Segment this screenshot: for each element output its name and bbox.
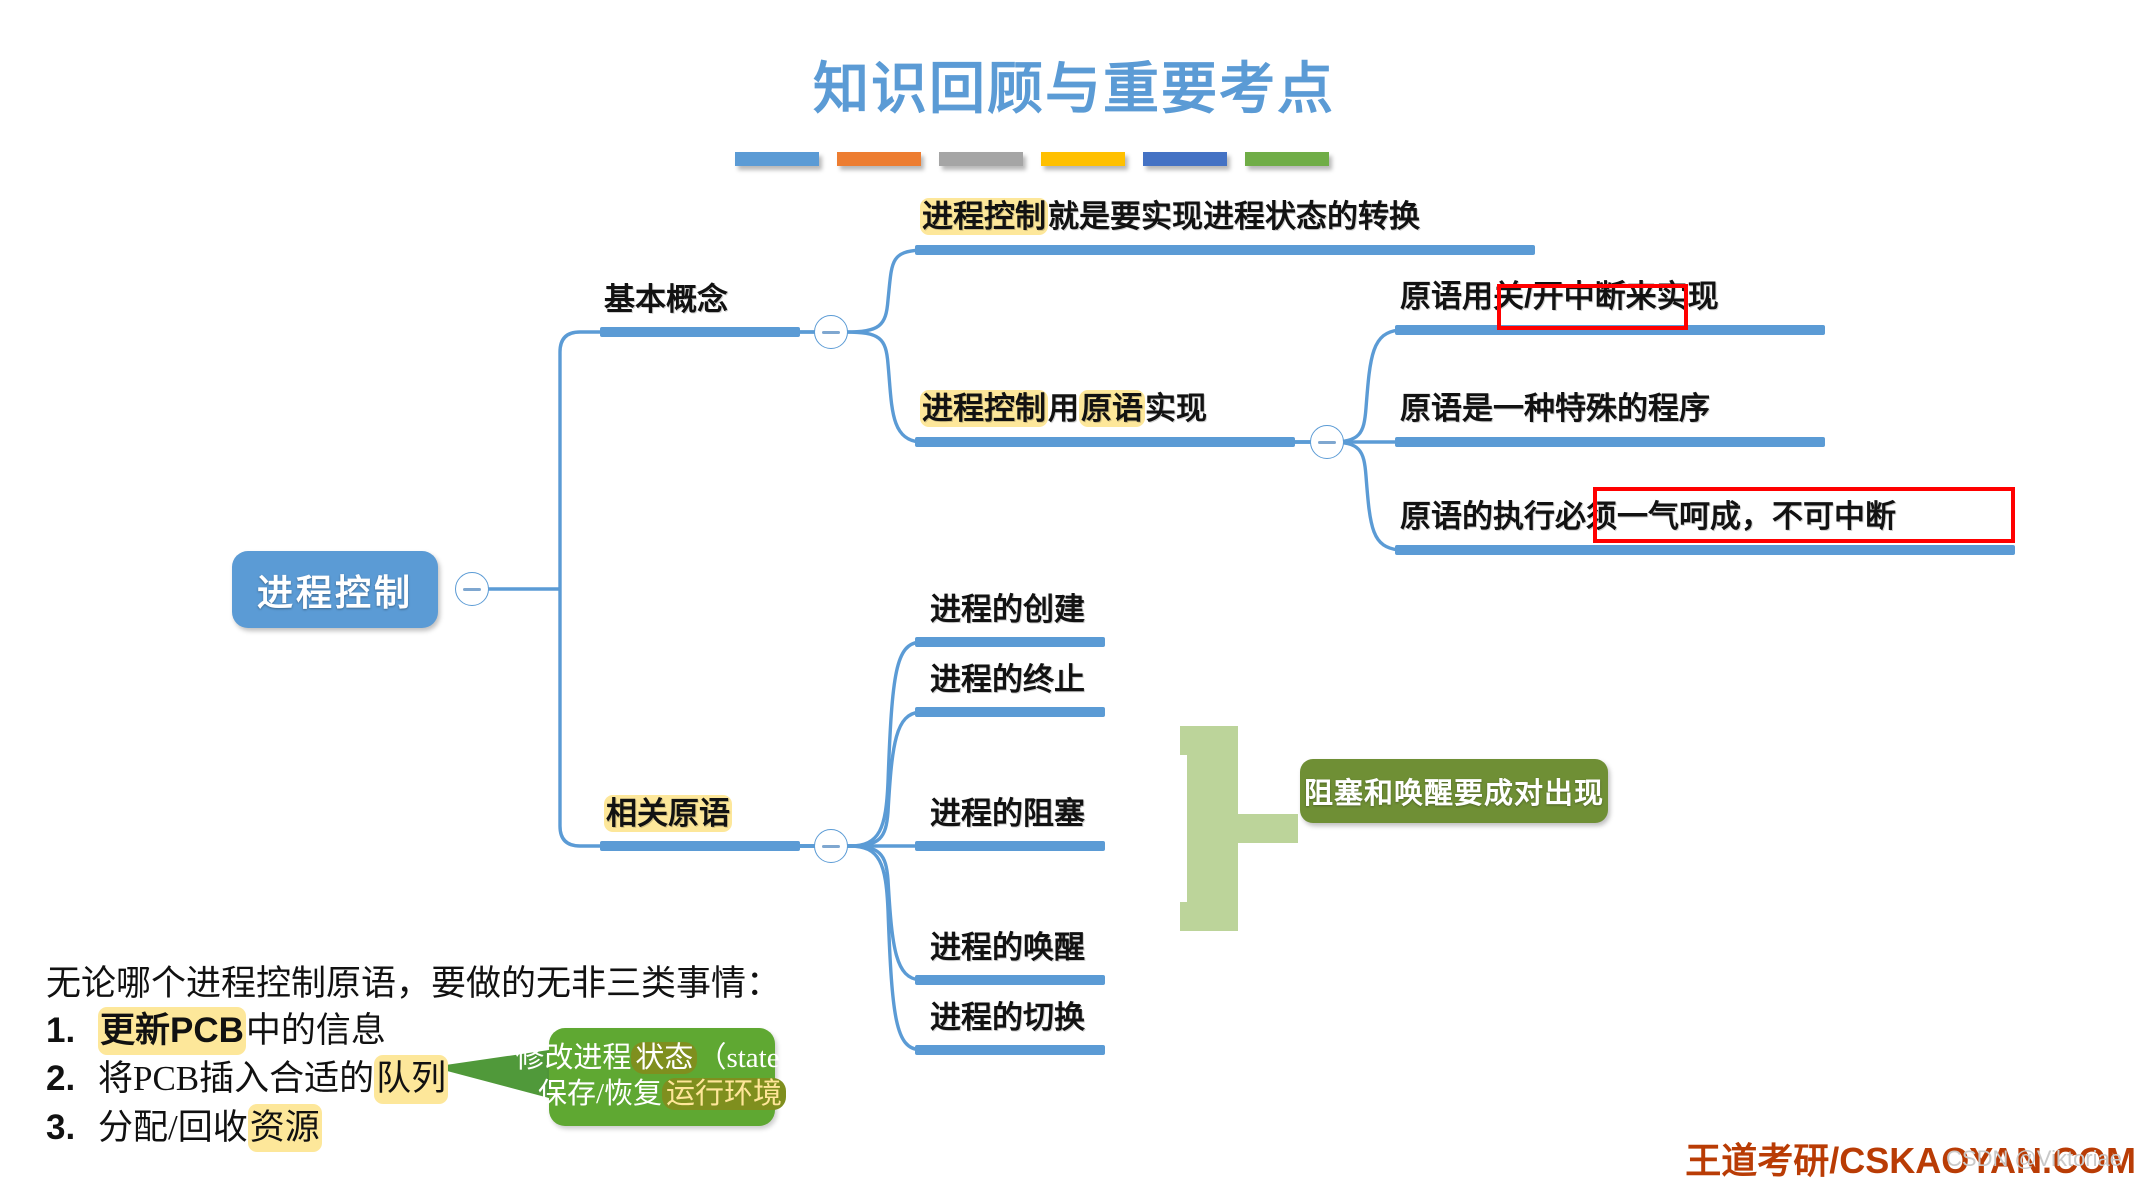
callout-line-2: 保存/恢复运行环境: [538, 1077, 786, 1113]
accent-bar-2: [837, 152, 921, 166]
node-related-primitives-label: 相关原语: [604, 795, 732, 832]
list-item-post: 中的信息: [246, 1008, 386, 1055]
node-pcup-seg3: 原语: [1079, 390, 1145, 427]
node-process-block-label: 进程的阻塞: [930, 797, 1085, 832]
speech-callout[interactable]: 修改进程状态（state） 保存/恢复运行环境: [549, 1028, 775, 1126]
collapse-toggle-related-primitives[interactable]: [814, 829, 848, 863]
node-process-create-label: 进程的创建: [930, 593, 1085, 628]
accent-bar-3: [939, 152, 1023, 166]
node-process-control-uses-primitives[interactable]: 进程控制用原语实现: [920, 392, 1207, 427]
node-primitive-special-program[interactable]: 原语是一种特殊的程序: [1400, 392, 1710, 427]
node-basic-concept[interactable]: 基本概念: [604, 283, 728, 318]
bottom-note-intro: 无论哪个进程控制原语，要做的无非三类事情：: [46, 962, 781, 1007]
node-pcup-seg2: 用: [1048, 391, 1079, 426]
bracket-note-box[interactable]: 阻塞和唤醒要成对出现: [1300, 759, 1608, 823]
accent-bar-6: [1245, 152, 1329, 166]
collapse-toggle-basic-concept[interactable]: [814, 315, 848, 349]
node-pcst-rest: 就是要实现进程状态的转换: [1048, 199, 1420, 234]
collapse-toggle-root[interactable]: [455, 572, 489, 606]
node-pcup-seg1: 进程控制: [920, 390, 1048, 427]
node-process-wakeup[interactable]: 进程的唤醒: [930, 931, 1085, 966]
node-pcup-seg4: 实现: [1145, 391, 1207, 426]
callout-line-1: 修改进程状态（state）: [515, 1041, 808, 1077]
node-process-switch-label: 进程的切换: [930, 1001, 1085, 1036]
node-process-terminate-label: 进程的终止: [930, 663, 1085, 698]
accent-bar-4: [1041, 152, 1125, 166]
accent-bar-5: [1143, 152, 1227, 166]
list-item-number: 2.: [46, 1056, 98, 1103]
accent-bar-strip: [735, 152, 1329, 166]
accent-bar-1: [735, 152, 819, 166]
node-basic-concept-label: 基本概念: [604, 283, 728, 318]
csdn-watermark: CSDN @Viktoriae: [1946, 1146, 2122, 1172]
node-process-create[interactable]: 进程的创建: [930, 593, 1085, 628]
list-item-highlight: 资源: [248, 1104, 322, 1153]
callout-line1-pre: 修改进程: [515, 1042, 631, 1074]
green-bracket: [1180, 726, 1298, 931]
node-process-terminate[interactable]: 进程的终止: [930, 663, 1085, 698]
mindmap-root-node[interactable]: 进程控制: [232, 551, 438, 628]
page-title: 知识回顾与重要考点: [0, 44, 2148, 125]
list-item-highlight: 队列: [374, 1055, 448, 1104]
collapse-toggle-primitives[interactable]: [1310, 425, 1344, 459]
node-process-block[interactable]: 进程的阻塞: [930, 797, 1085, 832]
node-psp-label: 原语是一种特殊的程序: [1400, 392, 1710, 427]
callout-line2-highlight: 运行环境: [662, 1078, 786, 1110]
node-process-wakeup-label: 进程的唤醒: [930, 931, 1085, 966]
callout-line1-post: （state）: [697, 1042, 808, 1074]
red-annotation-box-atomic: [1593, 487, 2015, 543]
node-related-primitives[interactable]: 相关原语: [604, 797, 732, 832]
node-process-switch[interactable]: 进程的切换: [930, 1001, 1085, 1036]
red-annotation-box-interrupt: [1497, 284, 1688, 330]
root-label: 进程控制: [257, 564, 413, 616]
node-pcst-highlight: 进程控制: [920, 198, 1048, 235]
slide-canvas: 知识回顾与重要考点: [0, 0, 2148, 1198]
callout-line2-pre: 保存/恢复: [538, 1078, 662, 1110]
node-process-control-is-state-transition[interactable]: 进程控制就是要实现进程状态的转换: [920, 200, 1420, 235]
bracket-note-label: 阻塞和唤醒要成对出现: [1304, 770, 1604, 812]
list-item-number: 3.: [46, 1105, 98, 1152]
list-item-pre: 将PCB插入合适的: [98, 1056, 374, 1103]
list-item-pre: 分配/回收: [98, 1105, 248, 1152]
node-pis-pre: 原语用: [1400, 279, 1493, 314]
callout-line1-highlight: 状态: [631, 1042, 697, 1074]
node-pae-pre: 原语的执行: [1400, 499, 1555, 534]
list-item-number: 1.: [46, 1008, 98, 1055]
list-item-highlight: 更新PCB: [98, 1007, 246, 1056]
